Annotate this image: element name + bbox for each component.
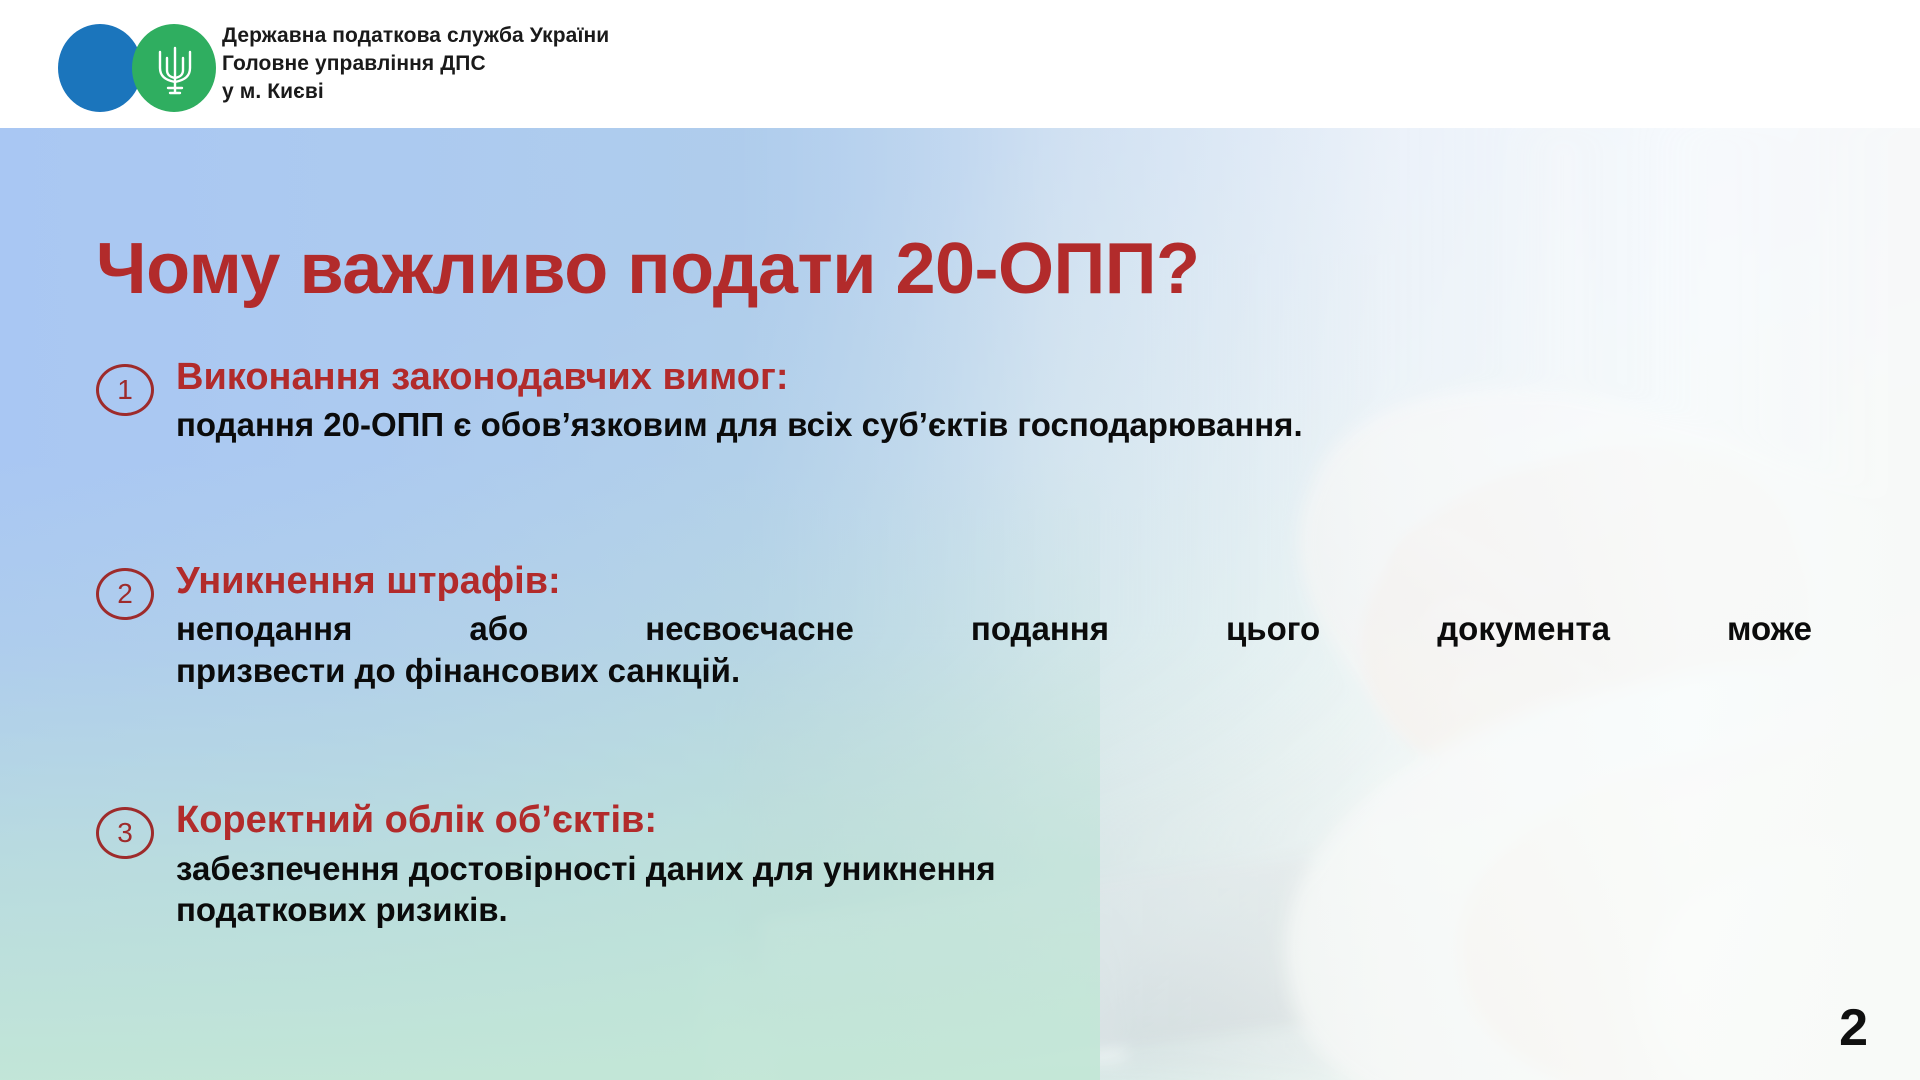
item-number-1: 1 [117,376,133,404]
slide-header: Державна податкова служба України Головн… [0,0,1920,128]
presentation-slide: Державна податкова служба України Головн… [0,0,1920,1080]
slide-content: Чому важливо подати 20-ОПП? 1 Виконання … [0,128,1920,1080]
item-number-badge-1: 1 [96,364,154,416]
item-number-3: 3 [117,819,133,847]
org-line-3: у м. Києві [222,78,609,106]
item-text-3-line-2: податкових ризиків. [176,891,508,928]
item-heading-1: Виконання законодавчих вимог: [176,354,1826,400]
item-heading-3: Коректний облік об’єктів: [176,797,1826,843]
list-item: 2 Уникнення штрафів: неподання або несво… [96,558,1826,692]
item-text-2-line-2: призвести до фінансових санкцій. [176,650,1812,692]
item-text-3: забезпечення достовірності даних для уни… [176,848,1826,931]
item-body-3: Коректний облік об’єктів: забезпечення д… [176,797,1826,931]
item-number-2: 2 [117,580,133,608]
item-text-2: неподання або несвоєчасне подання цього … [176,608,1812,691]
item-heading-2: Уникнення штрафів: [176,558,1826,604]
item-number-badge-2: 2 [96,568,154,620]
page-number: 2 [1839,998,1868,1058]
org-name-block: Державна податкова служба України Головн… [222,22,609,106]
list-item: 1 Виконання законодавчих вимог: подання … [96,354,1826,446]
tax-service-logo [52,16,212,112]
item-text-1: подання 20-ОПП є обов’язковим для всіх с… [176,404,1826,446]
org-line-1: Державна податкова служба України [222,22,609,50]
item-body-2: Уникнення штрафів: неподання або несвоєч… [176,558,1826,692]
trident-icon [154,42,196,96]
page-title: Чому важливо подати 20-ОПП? [96,228,1200,310]
item-body-1: Виконання законодавчих вимог: подання 20… [176,354,1826,446]
item-number-badge-3: 3 [96,807,154,859]
item-text-2-line-1: неподання або несвоєчасне подання цього … [176,608,1812,650]
item-text-3-line-1: забезпечення достовірності даних для уни… [176,850,996,887]
list-item: 3 Коректний облік об’єктів: забезпечення… [96,797,1826,931]
numbered-list: 1 Виконання законодавчих вимог: подання … [96,354,1826,931]
org-line-2: Головне управління ДПС [222,50,609,78]
logo-blue-circle-icon [58,24,142,112]
